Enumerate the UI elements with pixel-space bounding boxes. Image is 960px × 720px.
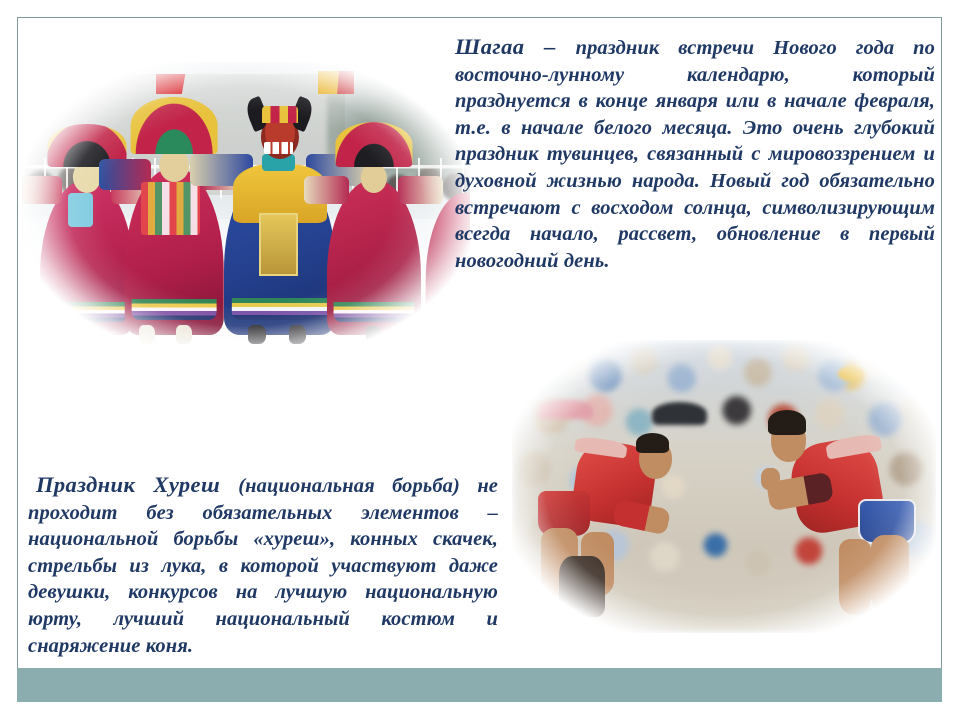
dancer-boot bbox=[59, 326, 74, 343]
dancer-ribbons bbox=[141, 182, 200, 234]
paragraph-khuresh: Праздник Хуреш (национальная борьба) не … bbox=[28, 472, 498, 659]
photo-flag-left bbox=[156, 74, 201, 94]
dancer-sleeve-left bbox=[304, 176, 349, 204]
image-khuresh-wrestlers bbox=[512, 340, 936, 633]
slide-canvas: Шагаа – праздник встречи Нового года по … bbox=[0, 0, 960, 720]
wrestler-left bbox=[529, 431, 682, 633]
dancer-hem-stripes bbox=[333, 302, 414, 321]
dancer-sleeve-left bbox=[22, 176, 62, 204]
footer-accent-band bbox=[17, 668, 942, 702]
image-tsam-dancers bbox=[22, 62, 470, 352]
photo-dancer-3-bull-mask bbox=[224, 91, 336, 335]
dancer-crown bbox=[262, 106, 298, 123]
wrestler-hair bbox=[636, 433, 670, 453]
photo-umbrella-pink bbox=[537, 399, 592, 420]
wrestler-boot bbox=[868, 617, 910, 633]
wrestler-boot bbox=[544, 621, 584, 633]
dancer-hem-stripes bbox=[46, 302, 127, 321]
shagaa-body-text: праздник встречи Нового года по восточно… bbox=[455, 37, 935, 272]
dancer-boot bbox=[289, 325, 307, 344]
wrestler-thigh bbox=[871, 535, 910, 615]
wrestler-right bbox=[758, 410, 919, 633]
wrestler-hand bbox=[761, 468, 780, 490]
dancer-scarf bbox=[68, 193, 92, 227]
wrestler-arm bbox=[612, 498, 671, 535]
dancer-boot bbox=[139, 325, 155, 344]
photo-dancer-2 bbox=[125, 97, 224, 335]
wrestler-hair bbox=[768, 410, 807, 434]
paragraph-shagaa: Шагаа – праздник встречи Нового года по … bbox=[455, 34, 935, 274]
wrestler-shadow bbox=[559, 556, 605, 617]
dancer-headdress bbox=[335, 122, 412, 167]
dancer-hem-stripes bbox=[132, 299, 217, 320]
dancer-boot bbox=[440, 327, 453, 342]
dancer-mask bbox=[160, 149, 190, 182]
dancer-hem-stripes bbox=[431, 306, 470, 323]
dancer-headdress bbox=[131, 97, 218, 154]
khuresh-body-text: (национальная борьба) не проходит без об… bbox=[28, 475, 498, 657]
dancer-boot bbox=[248, 325, 266, 344]
photo-umbrella bbox=[652, 402, 707, 425]
photo-dancer-1 bbox=[40, 120, 134, 335]
dancer-boot bbox=[366, 326, 381, 343]
dancer-boot bbox=[176, 325, 192, 344]
photo-dancer-4 bbox=[327, 120, 421, 335]
dancer-mask-teeth bbox=[264, 142, 293, 154]
wrestler-thigh bbox=[839, 539, 871, 615]
dancer-apron bbox=[259, 213, 297, 276]
shagaa-lead-term: Шагаа – bbox=[455, 34, 576, 59]
photo-yellow-hat bbox=[838, 366, 863, 381]
khuresh-lead-term: Праздник Хуреш bbox=[36, 472, 238, 497]
dancer-hem-stripes bbox=[231, 298, 327, 320]
